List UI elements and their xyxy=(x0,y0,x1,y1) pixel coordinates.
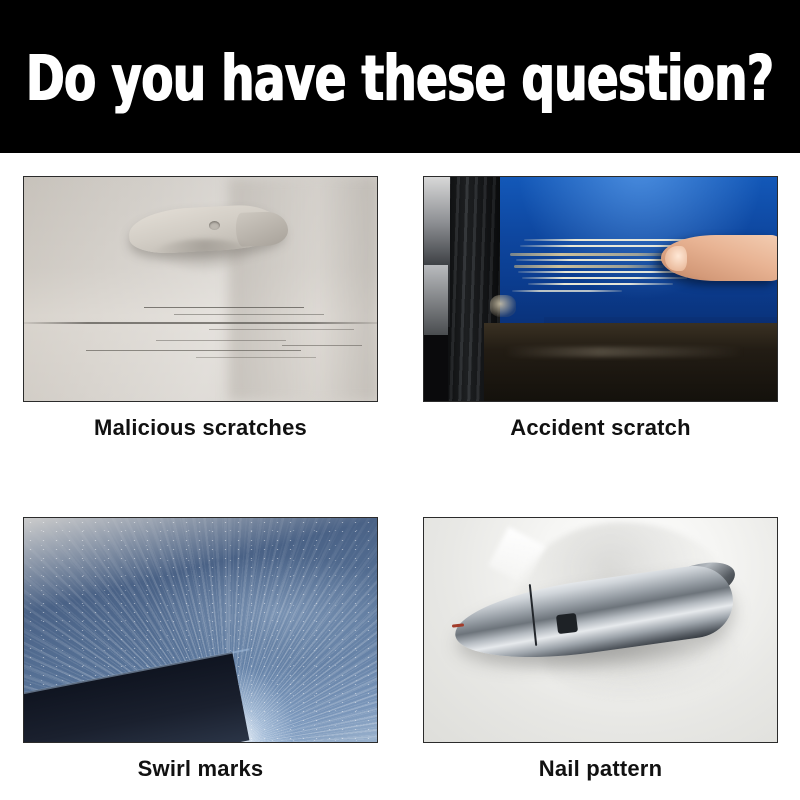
gallery-item-nail-pattern: Nail pattern xyxy=(423,517,778,782)
gallery-row: Malicious scratches xyxy=(23,176,778,441)
deep-scrape-line xyxy=(510,253,680,256)
gallery-item-accident-scratch: Accident scratch xyxy=(423,176,778,441)
gallery-item-caption: Swirl marks xyxy=(23,756,378,782)
pointing-finger xyxy=(661,235,778,281)
gallery-item-caption: Nail pattern xyxy=(423,756,778,782)
scratch-line xyxy=(528,283,673,285)
scratch-line xyxy=(512,290,622,292)
scratch-line xyxy=(144,307,304,308)
header-banner: Do you have these question? xyxy=(0,0,800,153)
page-title: Do you have these question? xyxy=(26,47,773,110)
gallery-row: Swirl marks Nail pattern xyxy=(23,517,778,782)
door-handle-cap-shape xyxy=(235,211,288,247)
blue-car-panel-scratch-photo xyxy=(423,176,778,402)
paint-chip-mark xyxy=(490,295,516,317)
scratch-line xyxy=(209,329,354,330)
problem-gallery: Malicious scratches xyxy=(23,176,778,782)
beige-car-door-with-scratches-photo xyxy=(23,176,378,402)
scratch-line xyxy=(86,350,301,351)
gallery-item-malicious-scratches: Malicious scratches xyxy=(23,176,378,441)
door-body-crease-line xyxy=(24,322,377,324)
gallery-item-caption: Malicious scratches xyxy=(23,415,378,441)
door-handle-shadow xyxy=(152,239,257,274)
white-car-door-chrome-handle-photo xyxy=(423,517,778,743)
rocker-sill-shape xyxy=(484,323,778,401)
sill-highlight xyxy=(504,347,744,357)
scratch-line xyxy=(196,357,316,358)
scratch-line xyxy=(522,277,687,279)
scratch-line xyxy=(282,345,362,346)
dark-blue-paint-swirl-marks-photo xyxy=(23,517,378,743)
deep-scrape-line xyxy=(514,265,664,268)
fingernail xyxy=(665,246,687,271)
gallery-item-caption: Accident scratch xyxy=(423,415,778,441)
door-handle-keyhole xyxy=(209,221,220,230)
wheel-rim-spoke xyxy=(424,265,448,335)
gallery-item-swirl-marks: Swirl marks xyxy=(23,517,378,782)
scratch-line xyxy=(156,340,286,341)
scratch-line xyxy=(174,314,324,315)
handle-lock-button xyxy=(556,613,578,634)
